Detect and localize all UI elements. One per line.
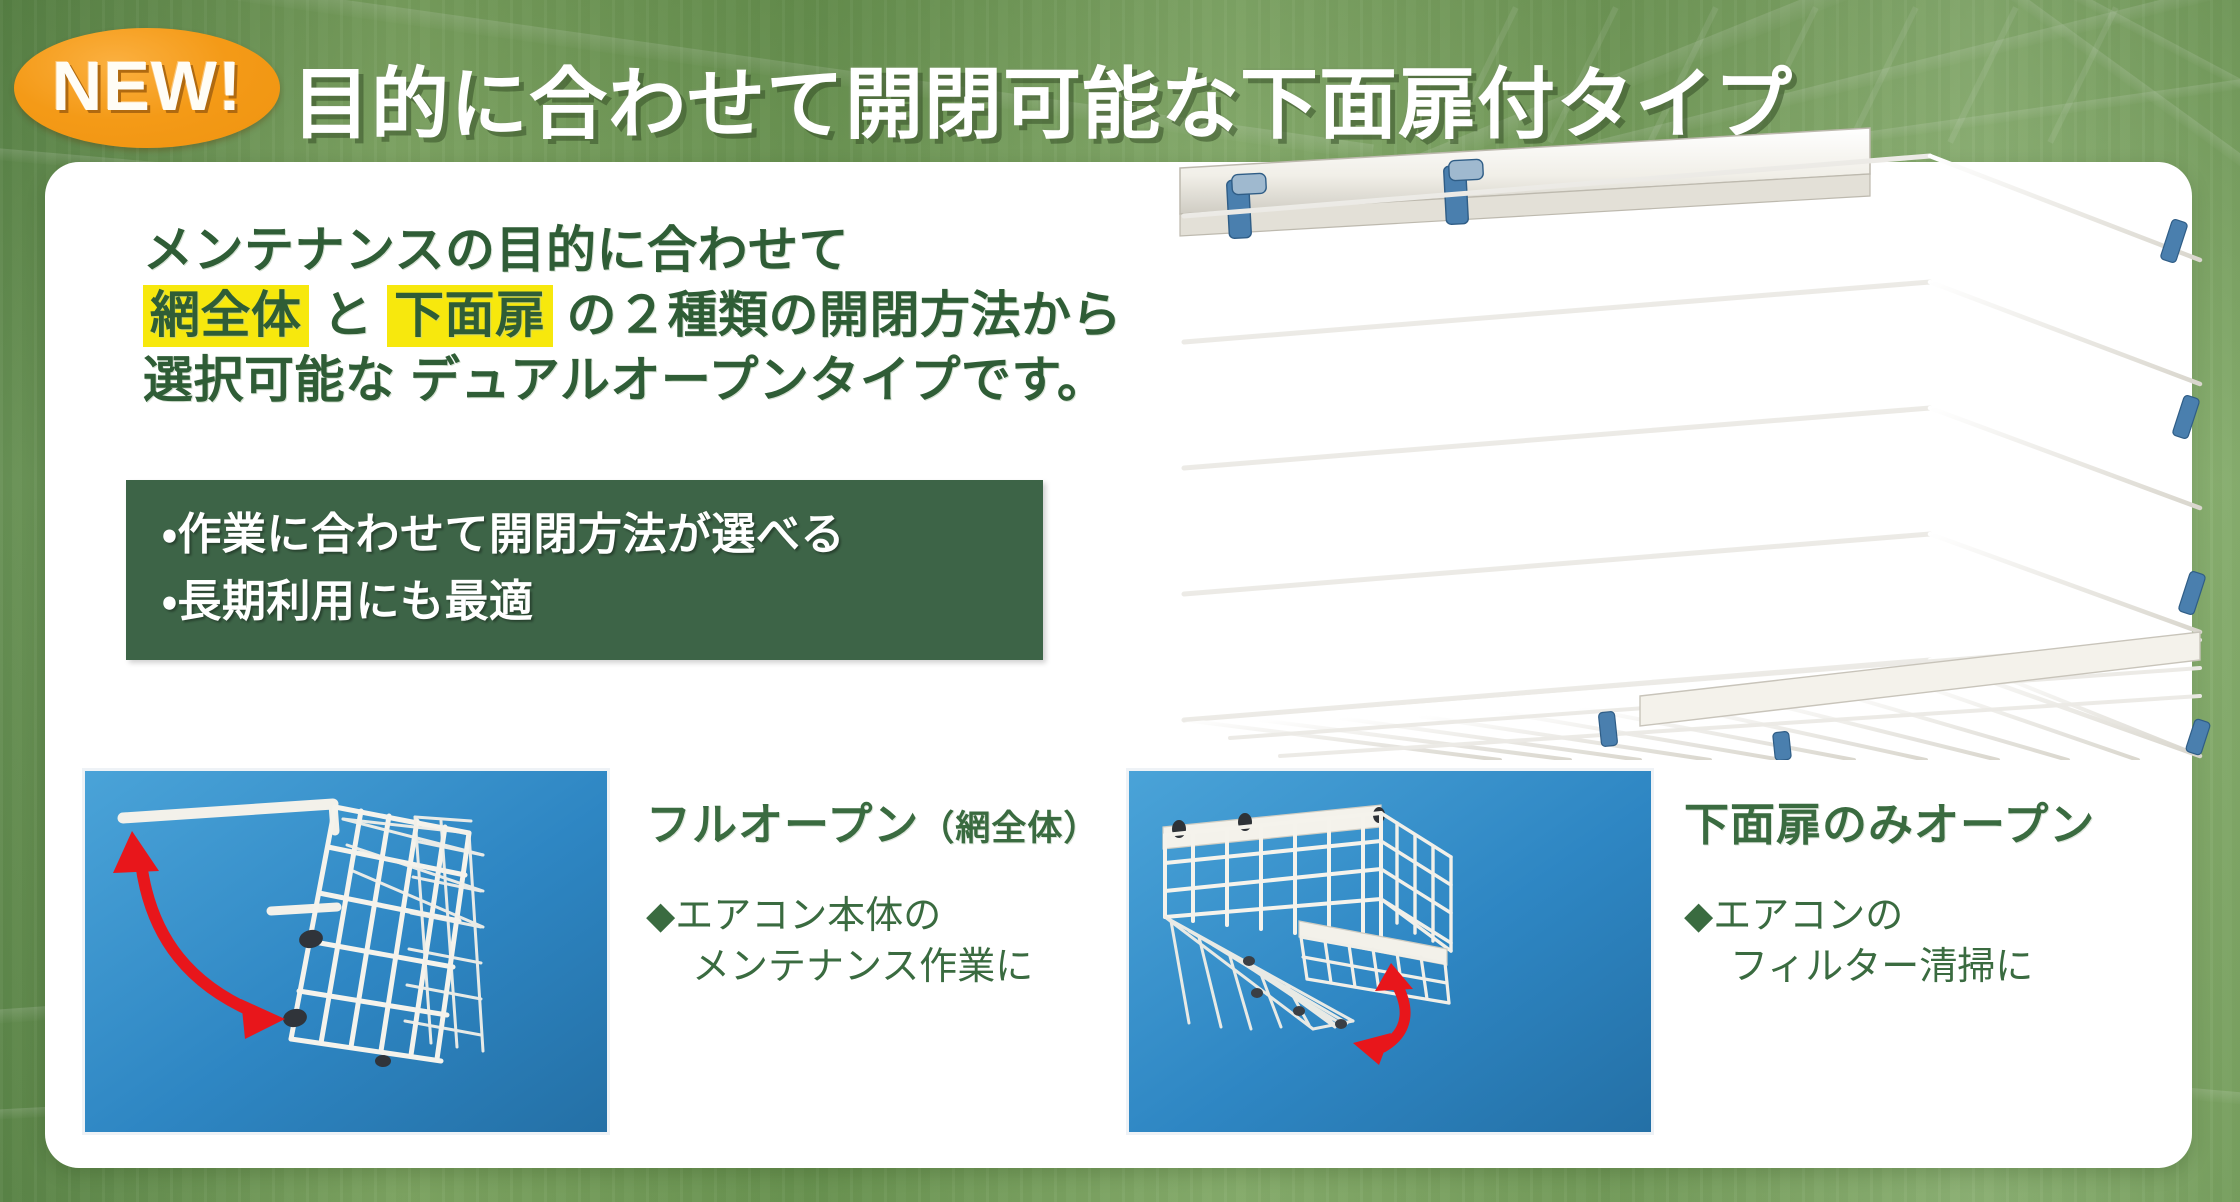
- copy-line-2-mid: と: [323, 287, 374, 343]
- caption-bottom-door-title: 下面扉のみオープン: [1684, 788, 2095, 853]
- slide-root: NEW! 目的に合わせて開閉可能な下面扉付タイプ メンテナンスの目的に合わせて …: [0, 0, 2240, 1202]
- caption-full-open-title-main: フルオープン: [646, 799, 919, 850]
- copy-line-2-tail: の２種類の開閉方法から: [567, 287, 1123, 343]
- caption-full-open-body: ◆エアコン本体の メンテナンス作業に: [646, 891, 1099, 993]
- new-badge-label: NEW!: [52, 46, 243, 126]
- caption-full-open-body-1: ◆エアコン本体の: [646, 895, 941, 937]
- caption-bottom-door-title-main: 下面扉のみオープン: [1684, 799, 2095, 850]
- photo-full-open: [82, 768, 610, 1135]
- caption-full-open-body-2: メンテナンス作業に: [646, 942, 1099, 993]
- caption-bottom-door-body-2: フィルター清掃に: [1684, 942, 2095, 993]
- caption-full-open-title-sub: （網全体）: [919, 809, 1099, 848]
- caption-bottom-door-body: ◆エアコンの フィルター清掃に: [1684, 891, 2095, 993]
- feature-box: ・作業に合わせて開閉方法が選べる ・長期利用にも最適: [126, 480, 1043, 660]
- copy-line-2: 網全体と下面扉の２種類の開閉方法から: [143, 283, 1163, 348]
- caption-bottom-door-open: 下面扉のみオープン ◆エアコンの フィルター清掃に: [1684, 788, 2095, 993]
- copy-line-1: メンテナンスの目的に合わせて: [143, 218, 1163, 283]
- hero-product-image: [1170, 120, 2240, 760]
- highlight-bottom-door: 下面扉: [387, 285, 553, 347]
- new-badge: NEW!: [14, 28, 280, 148]
- caption-full-open: フルオープン（網全体） ◆エアコン本体の メンテナンス作業に: [646, 788, 1099, 993]
- photo-bottom-door-open: [1126, 768, 1654, 1135]
- feature-item-1: ・作業に合わせて開閉方法が選べる: [126, 502, 1043, 569]
- copy-line-3: 選択可能な デュアルオープンタイプです。: [143, 348, 1163, 413]
- highlight-net-whole: 網全体: [143, 285, 309, 347]
- hero-back-mesh: [1184, 156, 1930, 720]
- feature-item-2: ・長期利用にも最適: [126, 569, 1043, 636]
- caption-full-open-title: フルオープン（網全体）: [646, 788, 1099, 853]
- intro-copy: メンテナンスの目的に合わせて 網全体と下面扉の２種類の開閉方法から 選択可能な …: [143, 218, 1163, 413]
- caption-bottom-door-body-1: ◆エアコンの: [1684, 895, 1903, 937]
